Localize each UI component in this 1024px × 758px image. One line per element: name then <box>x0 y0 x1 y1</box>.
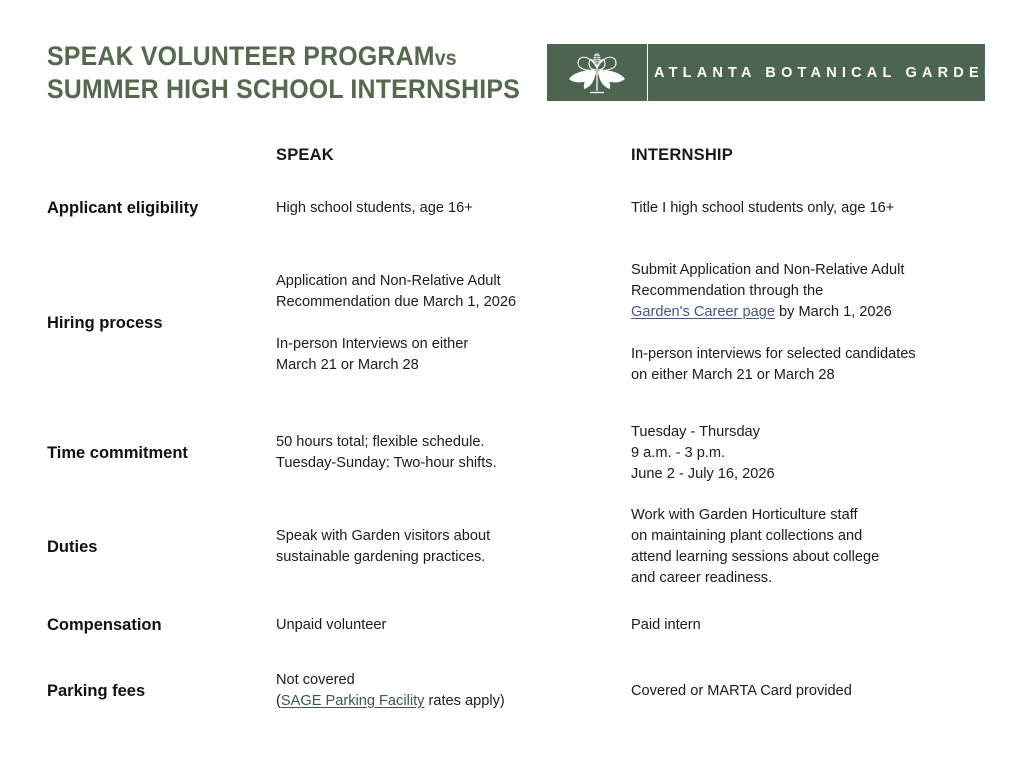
row-label: Applicant eligibility <box>47 199 212 217</box>
cell-text-speak: Unpaid volunteer <box>258 615 613 636</box>
table-header-row: SPEAK INTERNSHIP <box>47 131 977 179</box>
cell-text-speak: Application and Non-Relative Adult Recom… <box>258 271 613 376</box>
page-header: SPEAK VOLUNTEER PROGRAMvs SUMMER HIGH SC… <box>0 0 1024 118</box>
row-label-cell: Duties <box>47 497 258 597</box>
header-cell-blank <box>47 131 258 179</box>
cell-text-internship: Title I high school students only, age 1… <box>613 198 977 219</box>
cell-internship: Covered or MARTA Card provided <box>613 653 977 729</box>
row-label: Compensation <box>47 616 176 634</box>
cell-speak: Speak with Garden visitors about sustain… <box>258 497 613 597</box>
page-title-line-1: SPEAK VOLUNTEER PROGRAMvs <box>47 41 498 74</box>
table-row: Duties Speak with Garden visitors about … <box>47 497 977 597</box>
row-label-cell: Compensation <box>47 597 258 653</box>
garden-career-page-link[interactable]: Garden's Career page <box>631 304 775 320</box>
row-label-cell: Applicant eligibility <box>47 179 258 237</box>
cell-internship: Tuesday - Thursday 9 a.m. - 3 p.m. June … <box>613 409 977 497</box>
page-title-main: SPEAK VOLUNTEER PROGRAM <box>47 41 435 71</box>
page-title: SPEAK VOLUNTEER PROGRAMvs SUMMER HIGH SC… <box>47 41 527 104</box>
row-label: Hiring process <box>47 314 177 332</box>
table-row: Applicant eligibility High school studen… <box>47 179 977 237</box>
cell-speak: 50 hours total; flexible schedule. Tuesd… <box>258 409 613 497</box>
header-cell-speak: SPEAK <box>258 131 613 179</box>
row-label-cell: Time commitment <box>47 409 258 497</box>
cell-text-speak: High school students, age 16+ <box>258 198 613 219</box>
sage-parking-facility-link[interactable]: SAGE Parking Facility <box>281 693 425 709</box>
row-label-cell: Parking fees <box>47 653 258 729</box>
row-label-cell: Hiring process <box>47 237 258 409</box>
cell-text-internship-pre: Submit Application and Non-Relative Adul… <box>631 262 904 299</box>
cell-speak: Unpaid volunteer <box>258 597 613 653</box>
magnolia-flower-logo-icon <box>547 44 648 101</box>
cell-text-internship: Paid intern <box>613 615 977 636</box>
cell-speak: Application and Non-Relative Adult Recom… <box>258 237 613 409</box>
cell-text-speak-post: rates apply) <box>424 693 504 709</box>
header-cell-internship: INTERNSHIP <box>613 131 977 179</box>
table-row: Compensation Unpaid volunteer Paid inter… <box>47 597 977 653</box>
table-row: Parking fees Not covered (SAGE Parking F… <box>47 653 977 729</box>
cell-internship: Paid intern <box>613 597 977 653</box>
brand-wordmark: ATLANTA BOTANICAL GARDEN <box>648 65 1000 81</box>
cell-text-speak: 50 hours total; flexible schedule. Tuesd… <box>258 432 613 474</box>
cell-text-internship: Work with Garden Horticulture staff on m… <box>613 505 977 589</box>
cell-speak: Not covered (SAGE Parking Facility rates… <box>258 653 613 729</box>
comparison-table: SPEAK INTERNSHIP Applicant eligibility H… <box>47 131 977 729</box>
cell-text-internship: Tuesday - Thursday 9 a.m. - 3 p.m. June … <box>613 422 977 485</box>
row-label: Parking fees <box>47 682 159 700</box>
cell-internship: Submit Application and Non-Relative Adul… <box>613 237 977 409</box>
table-row: Hiring process Application and Non-Relat… <box>47 237 977 409</box>
header-label-internship: INTERNSHIP <box>613 146 977 165</box>
brand-logo-lockup: ATLANTA BOTANICAL GARDEN <box>547 44 985 101</box>
page-title-line-2: SUMMER HIGH SCHOOL INTERNSHIPS <box>47 74 498 104</box>
row-label: Duties <box>47 538 111 556</box>
cell-internship: Title I high school students only, age 1… <box>613 179 977 237</box>
cell-text-speak: Not covered (SAGE Parking Facility rates… <box>258 670 613 712</box>
cell-internship: Work with Garden Horticulture staff on m… <box>613 497 977 597</box>
page-title-vs: vs <box>435 47 457 70</box>
cell-text-internship: Submit Application and Non-Relative Adul… <box>613 260 977 386</box>
cell-text-internship: Covered or MARTA Card provided <box>613 681 977 702</box>
table-row: Time commitment 50 hours total; flexible… <box>47 409 977 497</box>
cell-speak: High school students, age 16+ <box>258 179 613 237</box>
header-label-speak: SPEAK <box>258 146 613 165</box>
cell-text-speak: Speak with Garden visitors about sustain… <box>258 526 613 568</box>
row-label: Time commitment <box>47 444 202 462</box>
